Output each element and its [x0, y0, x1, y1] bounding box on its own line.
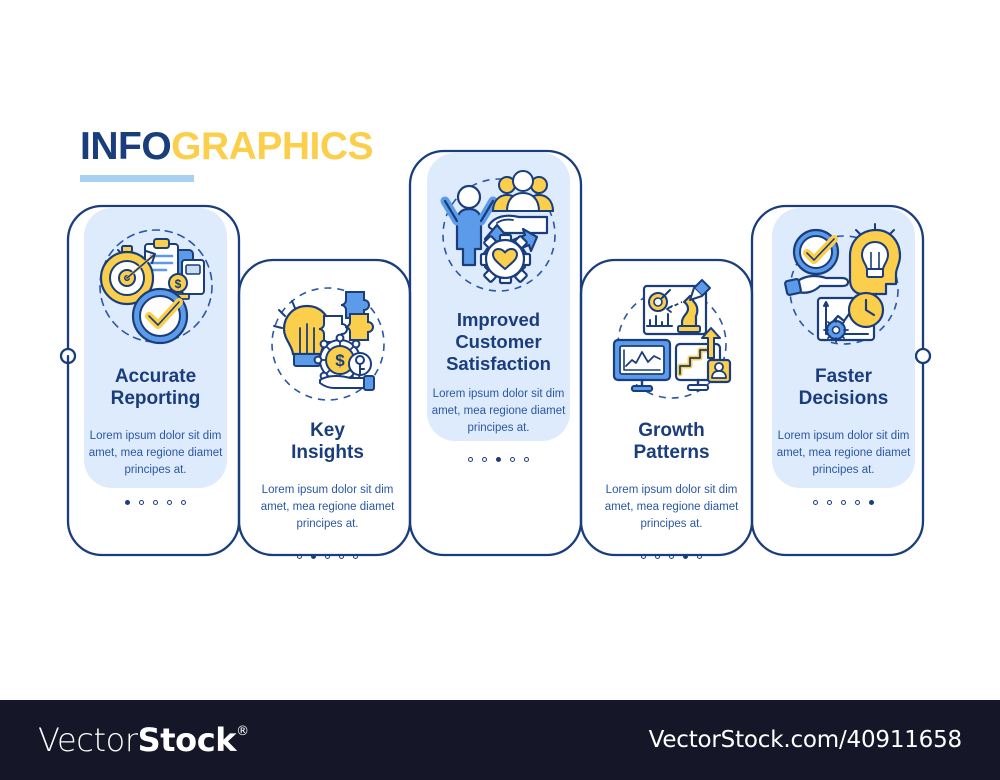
- wm-brand-bold: Stock: [138, 721, 237, 759]
- progress-dot-5[interactable]: [697, 554, 702, 559]
- step-description: Lorem ipsum dolor sit dim amet, mea regi…: [423, 386, 575, 437]
- progress-dot-5[interactable]: [353, 554, 358, 559]
- step-title: Improved Customer Satisfaction: [446, 309, 551, 374]
- progress-dot-2[interactable]: [655, 554, 660, 559]
- watermark-bar: VectorStock® VectorStock.com/40911658: [0, 700, 1000, 780]
- step-card-accurate-reporting[interactable]: $: [84, 208, 227, 488]
- progress-dot-4[interactable]: [339, 554, 344, 559]
- progress-dot-5[interactable]: [181, 500, 186, 505]
- check-head-bulb-clock-icon: [776, 222, 912, 358]
- title-underline: [80, 175, 194, 182]
- step-title: Accurate Reporting: [111, 366, 201, 411]
- chart-monitor-growth-icon: [604, 276, 740, 412]
- step-card-faster-decisions[interactable]: Faster Decisions Lorem ipsum dolor sit d…: [772, 208, 915, 488]
- step-progress-dots[interactable]: [641, 554, 702, 559]
- infographic-canvas: INFOGRAPHICS: [0, 0, 1000, 780]
- step-description: Lorem ipsum dolor sit dim amet, mea regi…: [768, 428, 920, 479]
- progress-dot-3[interactable]: [841, 500, 846, 505]
- progress-dot-2[interactable]: [311, 554, 316, 559]
- progress-dot-3[interactable]: [496, 457, 501, 462]
- progress-dot-1[interactable]: [641, 554, 646, 559]
- step-progress-dots[interactable]: [125, 500, 186, 505]
- progress-dot-5[interactable]: [524, 457, 529, 462]
- left-endcap-circle: [61, 349, 75, 363]
- step-description: Lorem ipsum dolor sit dim amet, mea regi…: [80, 428, 232, 479]
- step-description: Lorem ipsum dolor sit dim amet, mea regi…: [252, 482, 404, 533]
- progress-dot-2[interactable]: [827, 500, 832, 505]
- step-card-key-insights[interactable]: $ Key Insights Lorem ipsum dolor sit dim…: [256, 262, 399, 542]
- watermark-url: VectorStock.com/40911658: [649, 727, 962, 753]
- progress-dot-3[interactable]: [325, 554, 330, 559]
- vectorstock-logo: VectorStock®: [38, 721, 249, 759]
- step-progress-dots[interactable]: [813, 500, 874, 505]
- step-title: Growth Patterns: [633, 420, 709, 465]
- page-title-primary: INFO: [80, 125, 171, 168]
- step-progress-dots[interactable]: [468, 457, 529, 462]
- progress-dot-1[interactable]: [297, 554, 302, 559]
- target-clipboard-check-icon: $: [88, 222, 224, 358]
- step-progress-dots[interactable]: [297, 554, 358, 559]
- progress-dot-4[interactable]: [167, 500, 172, 505]
- step-card-improved-customer-satisfaction[interactable]: Improved Customer Satisfaction Lorem ips…: [427, 153, 570, 441]
- progress-dot-1[interactable]: [813, 500, 818, 505]
- page-title-accent: GRAPHICS: [171, 125, 373, 168]
- svg-text:$: $: [335, 351, 345, 370]
- svg-text:$: $: [174, 277, 181, 291]
- step-title: Key Insights: [291, 420, 364, 465]
- progress-dot-5[interactable]: [869, 500, 874, 505]
- step-title: Faster Decisions: [799, 366, 889, 411]
- progress-dot-2[interactable]: [139, 500, 144, 505]
- progress-dot-2[interactable]: [482, 457, 487, 462]
- step-card-growth-patterns[interactable]: Growth Patterns Lorem ipsum dolor sit di…: [600, 262, 743, 542]
- progress-dot-3[interactable]: [669, 554, 674, 559]
- progress-dot-1[interactable]: [468, 457, 473, 462]
- people-hand-heart-gear-icon: [431, 167, 567, 303]
- lightbulb-puzzle-gear-icon: $: [260, 276, 396, 412]
- step-description: Lorem ipsum dolor sit dim amet, mea regi…: [596, 482, 748, 533]
- progress-dot-4[interactable]: [510, 457, 515, 462]
- wm-brand-light: Vector: [38, 721, 138, 759]
- registered-mark-icon: ®: [236, 724, 249, 739]
- right-endcap-circle: [916, 349, 930, 363]
- progress-dot-1[interactable]: [125, 500, 130, 505]
- progress-dot-4[interactable]: [683, 554, 688, 559]
- progress-dot-4[interactable]: [855, 500, 860, 505]
- progress-dot-3[interactable]: [153, 500, 158, 505]
